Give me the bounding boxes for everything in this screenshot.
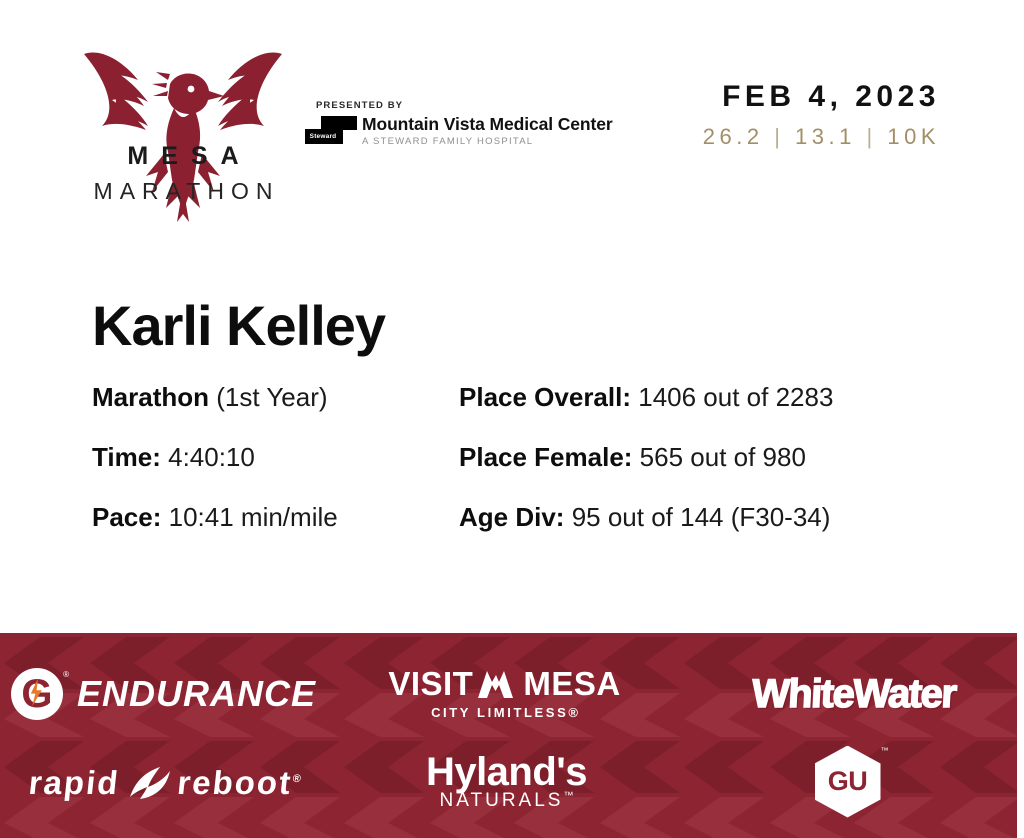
sponsor-gatorade-endurance: G ® ENDURANCE [0,650,339,738]
whitewater-wordmark: WhiteWater [751,674,957,714]
stat-value: 565 out of 980 [640,442,806,472]
visit-mesa-tagline: CITY LIMITLESS® [388,705,620,720]
stat-label: Marathon [92,382,209,412]
stat-place-overall: Place Overall: 1406 out of 2283 [459,383,942,412]
race-result-certificate: MESA MARATHON PRESENTED BY Steward Mount… [0,0,1024,838]
rapid-reboot-swoosh-icon [125,763,171,801]
sponsor-gu-energy: GU ™ [678,738,1017,826]
stat-value: 95 out of 144 (F30-34) [572,502,831,532]
visit-mesa-registered-mark: ® [568,705,580,720]
hylands-tagline-text: NATURALS [440,790,564,811]
sponsor-row-1: G ® ENDURANCE VISIT [0,650,1017,738]
stat-row: Marathon (1st Year) Place Overall: 1406 … [92,383,942,443]
stat-row: Pace: 10:41 min/mile Age Div: 95 out of … [92,503,942,563]
phoenix-icon [78,36,288,226]
visit-mesa-tagline-text: CITY LIMITLESS [431,705,568,720]
runner-name: Karli Kelley [92,298,385,354]
sponsor-row-2: rapid reboot® Hyland's NATURALS™ [0,738,1017,826]
distance-10k: 10K [887,124,940,149]
stat-time: Time: 4:40:10 [92,443,459,472]
mountain-icon [478,669,518,699]
sponsor-whitewater: WhiteWater [678,650,1017,738]
stat-value: 1406 out of 2283 [638,382,833,412]
distance-marathon: 26.2 [703,124,764,149]
hylands-wordmark: Hyland's [426,752,587,792]
sponsor-rapid-reboot: rapid reboot® [0,738,339,826]
sponsor-hylands-naturals: Hyland's NATURALS™ [339,738,678,826]
stat-place-female: Place Female: 565 out of 980 [459,443,942,472]
rapid-reboot-registered-mark: ® [292,772,303,784]
gu-wordmark: GU [828,768,868,795]
rapid-reboot-word-reboot: reboot® [176,765,304,798]
gatorade-g-icon: G ® [11,668,63,720]
distance-separator-2: | [867,124,877,149]
race-distances: 26.2 | 13.1 | 10K [703,126,940,148]
presenting-sponsor-name: Mountain Vista Medical Center [362,115,613,133]
presenting-sponsor-tagline: A STEWARD FAMILY HOSPITAL [362,136,613,147]
visit-mesa-word-mesa: MESA [523,667,620,700]
rapid-reboot-word-rapid: rapid [27,765,121,798]
presented-by-label: PRESENTED BY [316,100,570,111]
hylands-trademark-mark: ™ [563,790,576,801]
stat-label: Pace: [92,502,161,532]
stat-age-division: Age Div: 95 out of 144 (F30-34) [459,503,942,532]
rapid-reboot-word-reboot-text: reboot [176,763,295,800]
gu-trademark-mark: ™ [881,746,889,755]
stat-value: 10:41 min/mile [169,502,338,532]
results-stats-grid: Marathon (1st Year) Place Overall: 1406 … [92,383,942,563]
race-date: FEB 4, 2023 [703,82,940,112]
stat-row: Time: 4:40:10 Place Female: 565 out of 9… [92,443,942,503]
mesa-marathon-logo: MESA MARATHON [78,36,288,226]
steward-mark-text: Steward [306,132,340,142]
stat-value: (1st Year) [216,382,327,412]
stat-label: Time: [92,442,161,472]
stat-value: 4:40:10 [168,442,255,472]
stat-label: Age Div: [459,502,564,532]
race-date-block: FEB 4, 2023 26.2 | 13.1 | 10K [703,82,940,148]
gatorade-endurance-wordmark: ENDURANCE [77,676,316,712]
stat-label: Place Female: [459,442,632,472]
hylands-tagline: NATURALS™ [426,790,587,812]
sponsor-visit-mesa: VISIT MESA CITY LIMITLESS® [339,650,678,738]
stat-pace: Pace: 10:41 min/mile [92,503,459,532]
certificate-header: MESA MARATHON PRESENTED BY Steward Mount… [0,0,1024,235]
steward-logo-icon: Steward [305,116,357,149]
stat-label: Place Overall: [459,382,631,412]
stat-race-type: Marathon (1st Year) [92,383,459,412]
gu-hexagon-icon: GU [815,746,881,818]
presenting-sponsor: PRESENTED BY Steward Mountain Vista Medi… [305,100,570,149]
distance-separator-1: | [774,124,784,149]
sponsor-footer: G ® ENDURANCE VISIT [0,633,1017,838]
gatorade-registered-mark: ® [63,670,69,679]
visit-mesa-word-visit: VISIT [388,667,473,700]
distance-half: 13.1 [795,124,856,149]
